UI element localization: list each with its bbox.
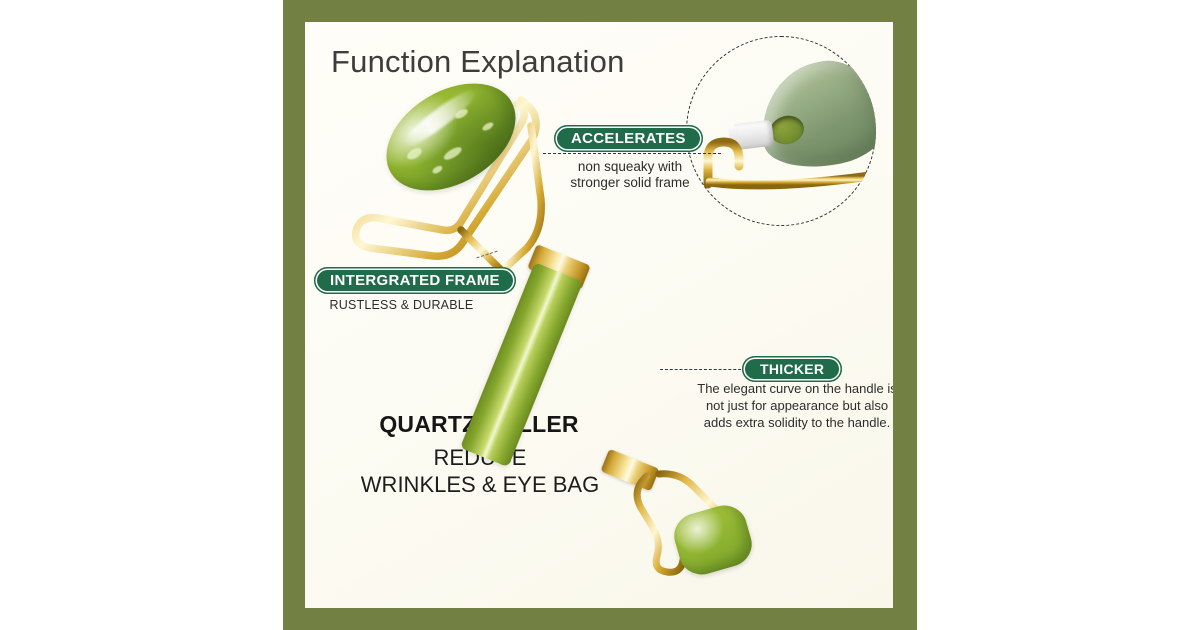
infographic-canvas: Function Explanation bbox=[0, 0, 1200, 630]
content-panel: Function Explanation bbox=[305, 22, 893, 608]
badge-accelerates[interactable]: ACCELERATES bbox=[554, 125, 703, 152]
description-intergrated-frame: RUSTLESS & DURABLE bbox=[314, 298, 489, 313]
description-accelerates-line1: non squeaky with bbox=[545, 159, 715, 175]
leader-line-thicker bbox=[660, 369, 746, 370]
badge-thicker[interactable]: THICKER bbox=[742, 356, 842, 382]
badge-intergrated-frame[interactable]: INTERGRATED FRAME bbox=[314, 267, 516, 294]
description-thicker-line3: adds extra solidity to the handle. bbox=[682, 414, 893, 431]
product-illustration bbox=[305, 22, 893, 608]
description-thicker-line2: not just for appearance but also bbox=[682, 397, 893, 414]
description-thicker-line1: The elegant curve on the handle is bbox=[682, 380, 893, 397]
description-accelerates: non squeaky with stronger solid frame bbox=[545, 159, 715, 192]
leader-line-accelerates bbox=[543, 153, 721, 154]
description-thicker: The elegant curve on the handle is not j… bbox=[682, 380, 893, 431]
description-accelerates-line2: stronger solid frame bbox=[545, 175, 715, 191]
